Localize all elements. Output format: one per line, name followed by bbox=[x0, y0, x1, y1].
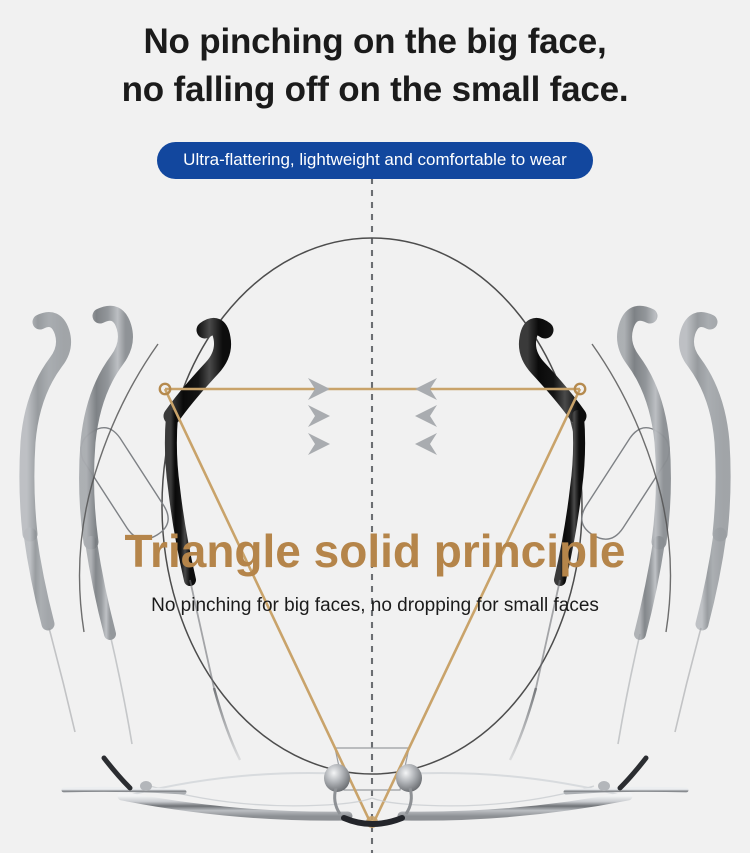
frame-arm-left bbox=[64, 789, 184, 792]
headline-line-1: No pinching on the big face, bbox=[0, 18, 750, 66]
pressure-arrow-right-1 bbox=[415, 378, 549, 400]
feature-title: Triangle solid principle bbox=[0, 523, 750, 579]
pressure-arrow-left-1 bbox=[196, 378, 330, 400]
hinge-left bbox=[140, 781, 152, 791]
pressure-arrow-left-2 bbox=[196, 405, 330, 427]
page-headline: No pinching on the big face, no falling … bbox=[0, 18, 750, 114]
pressure-arrow-right-2 bbox=[415, 405, 549, 427]
rim-wire-left bbox=[80, 344, 159, 632]
rim-wire-right bbox=[592, 344, 671, 632]
badge-container: Ultra-flattering, lightweight and comfor… bbox=[0, 142, 750, 179]
frame-arm-right bbox=[566, 789, 686, 792]
eyewear-fit-diagram bbox=[0, 0, 750, 853]
eyeglasses-frame bbox=[64, 758, 686, 824]
pressure-arrows-right bbox=[415, 378, 549, 455]
feature-badge: Ultra-flattering, lightweight and comfor… bbox=[157, 142, 593, 179]
feature-caption: No pinching for big faces, no dropping f… bbox=[0, 593, 750, 619]
product-feature-poster: No pinching on the big face, no falling … bbox=[0, 0, 750, 853]
hinge-right bbox=[598, 781, 610, 791]
headline-line-2: no falling off on the small face. bbox=[0, 66, 750, 114]
pressure-arrows-left bbox=[196, 378, 330, 455]
pressure-arrow-right-3 bbox=[415, 433, 549, 455]
nose-pad-left bbox=[324, 764, 350, 792]
pressure-arrow-left-3 bbox=[196, 433, 330, 455]
nose-pad-right bbox=[396, 764, 422, 792]
